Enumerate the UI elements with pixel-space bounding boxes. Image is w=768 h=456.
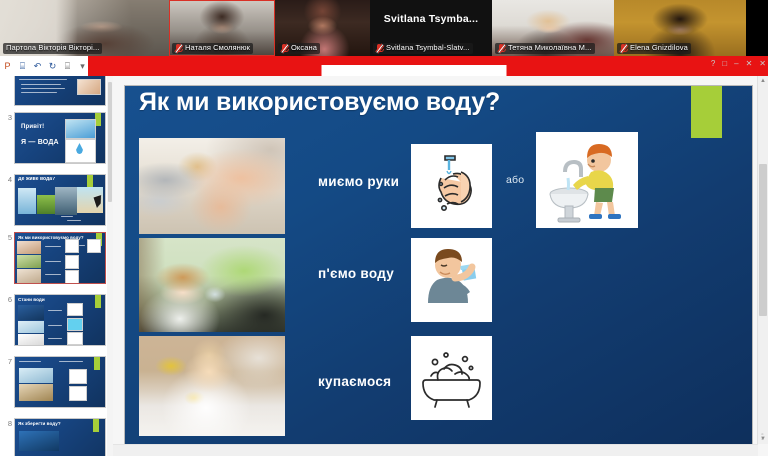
video-tile-participant-6[interactable]: Elena Gnizdilova — [614, 0, 746, 56]
help-icon[interactable]: ? — [711, 59, 715, 68]
current-slide[interactable]: Як ми використовуємо воду? миємо руки — [125, 86, 752, 447]
customize-qat-icon[interactable]: ▾ — [77, 61, 88, 71]
window-controls: ? □ – ✕ ✕ — [711, 59, 766, 68]
slide-photo-hands-washing[interactable] — [139, 138, 285, 234]
thumbnail-slide-3[interactable]: 3 Привіт! Я — ВОДА — [0, 112, 113, 164]
thumbnail-text-line-1: Привіт! — [21, 124, 44, 130]
thumbnail-preview[interactable]: Де живе вода? — [14, 174, 106, 226]
thumbnail-number: 4 — [0, 174, 14, 184]
bathtub-icon — [411, 336, 492, 420]
video-tile-participant-2[interactable]: Наталя Смолянюк — [169, 0, 275, 56]
mic-muted-icon — [498, 44, 505, 53]
slide-thumbnail-pane[interactable]: 2 3 Привіт! Я — ВОДА — [0, 76, 114, 456]
title-bar-background[interactable]: ? □ – ✕ ✕ — [88, 56, 768, 76]
slide-icon-drinking-water[interactable] — [411, 238, 492, 322]
powerpoint-title-bar: P ⌸ ↶ ↻ ⌸ ▾ ? □ – ✕ ✕ — [0, 56, 768, 76]
participant-name: Наталя Смолянюк — [185, 43, 250, 53]
quick-access-toolbar: P ⌸ ↶ ↻ ⌸ ▾ — [0, 61, 88, 71]
video-participant-strip: Партола Вікторія Вікторі... Наталя Смоля… — [0, 0, 768, 56]
mic-muted-icon — [175, 44, 182, 53]
thumbnail-slide-8[interactable]: 8 Як зберегти воду? — [0, 418, 113, 456]
slide-connector-label[interactable]: або — [506, 174, 524, 186]
video-tile-participant-1[interactable]: Партола Вікторія Вікторі... — [0, 0, 169, 56]
thumbnail-number: 3 — [0, 112, 14, 122]
thumbnail-title: Як зберегти воду? — [18, 421, 91, 426]
participant-display-name: Svitlana Tsymba... — [370, 13, 492, 25]
scroll-up-arrow[interactable]: ▲ — [758, 76, 768, 86]
undo-icon[interactable]: ↶ — [32, 61, 43, 71]
thumbnail-number: 8 — [0, 418, 14, 428]
video-tile-participant-3[interactable]: Оксана — [275, 0, 370, 56]
editor-workspace: 2 3 Привіт! Я — ВОДА — [0, 76, 768, 456]
thumbnail-preview-selected[interactable]: Як ми використовуємо воду? — [14, 232, 106, 284]
thumbnail-title: Де живе вода? — [18, 177, 91, 182]
scroll-extra-buttons[interactable]: ▫▫ — [759, 433, 766, 443]
slide-editing-area[interactable]: Як ми використовуємо воду? миємо руки — [113, 76, 768, 456]
participant-name: Партола Вікторія Вікторі... — [6, 43, 99, 53]
thumbnail-scrollbar-thumb[interactable] — [108, 82, 112, 202]
start-presentation-icon[interactable]: ⌸ — [62, 61, 73, 71]
powerpoint-with-video-conference: Партола Вікторія Вікторі... Наталя Смоля… — [0, 0, 768, 456]
thumbnail-slide-6[interactable]: 6 Стани води — [0, 294, 113, 346]
thumbnail-preview[interactable]: Привіт! Я — ВОДА — [14, 112, 106, 164]
washing-hands-icon — [411, 144, 492, 228]
man-drinking-glass-icon — [411, 238, 492, 322]
participant-name: Elena Gnizdilova — [630, 43, 688, 53]
slide-photo-girl-drinking[interactable] — [139, 238, 285, 332]
title-bar-overlay-panel — [322, 65, 507, 76]
participant-name-badge: Партола Вікторія Вікторі... — [3, 43, 102, 54]
slide-row-label-3[interactable]: купаємося — [318, 374, 391, 389]
video-tile-participant-5[interactable]: Тетяна Миколаївна М... — [492, 0, 614, 56]
minimize-icon[interactable]: – — [734, 59, 738, 68]
boy-at-sink-icon — [536, 132, 638, 228]
thumbnail-preview[interactable] — [14, 76, 106, 106]
participant-name: Svitlana Tsymbal-Slatv... — [386, 43, 470, 53]
close-icon[interactable]: ✕ — [759, 59, 766, 68]
thumbnail-title: Як ми використовуємо воду? — [18, 235, 91, 240]
mic-muted-icon — [281, 44, 288, 53]
thumbnail-preview[interactable]: Як зберегти воду? — [14, 418, 106, 456]
slide-row-label-2[interactable]: п'ємо воду — [318, 266, 394, 281]
participant-name: Оксана — [291, 43, 317, 53]
thumbnail-preview[interactable]: Стани води — [14, 294, 106, 346]
thumbnail-number: 6 — [0, 294, 14, 304]
participant-name-badge: Тетяна Миколаївна М... — [495, 43, 595, 54]
thumbnail-number: 7 — [0, 356, 14, 366]
mic-muted-icon — [620, 44, 627, 53]
slide-icon-boy-at-sink[interactable] — [536, 132, 638, 228]
participant-name-badge: Наталя Смолянюк — [172, 43, 253, 54]
thumbnail-title: Стани води — [18, 297, 91, 302]
thumbnail-preview[interactable] — [14, 356, 106, 408]
thumbnail-slide-5[interactable]: 5 Як ми використовуємо воду? — [0, 232, 113, 284]
participant-name: Тетяна Миколаївна М... — [508, 43, 592, 53]
thumbnail-slide-2[interactable]: 2 — [0, 76, 113, 106]
slide-photo-baby-bathing[interactable] — [139, 336, 285, 436]
slide-icon-washing-hands[interactable] — [411, 144, 492, 228]
slide-title[interactable]: Як ми використовуємо воду? — [125, 88, 752, 117]
mic-muted-icon — [376, 44, 383, 53]
video-strip-filler — [746, 0, 768, 56]
participant-name-badge: Elena Gnizdilova — [617, 43, 691, 54]
vertical-scrollbar-thumb[interactable] — [759, 164, 767, 316]
redo-icon[interactable]: ↻ — [47, 61, 58, 71]
powerpoint-logo-icon[interactable]: P — [2, 61, 13, 71]
slide-pane-vertical-scrollbar[interactable]: ▲ ▼ — [757, 76, 768, 444]
thumbnail-text-line-2: Я — ВОДА — [21, 139, 59, 146]
video-tile-participant-4[interactable]: Svitlana Tsymba... Svitlana Tsymbal-Slat… — [370, 0, 492, 56]
status-bar-strip[interactable] — [113, 444, 758, 456]
participant-name-badge: Оксана — [278, 43, 320, 54]
participant-name-badge: Svitlana Tsymbal-Slatv... — [373, 43, 473, 54]
thumbnail-slide-7[interactable]: 7 — [0, 356, 113, 408]
slide-row-label-1[interactable]: миємо руки — [318, 174, 399, 189]
slide-icon-bathtub[interactable] — [411, 336, 492, 420]
save-icon[interactable]: ⌸ — [17, 61, 28, 71]
thumbnail-number: 5 — [0, 232, 14, 242]
ribbon-display-options-icon[interactable]: □ — [722, 59, 727, 68]
restore-icon[interactable]: ✕ — [746, 59, 753, 68]
